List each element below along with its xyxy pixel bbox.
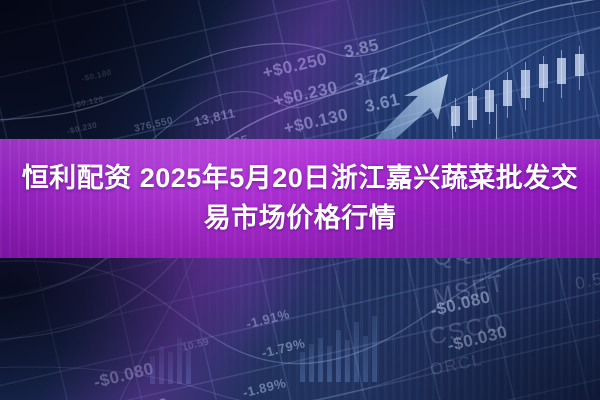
- headline-line-1: 恒利配资 2025年5月20日浙江嘉兴蔬菜批发交: [22, 160, 579, 197]
- banner-image: 3.85 3.72 3.61 +$0.250 +$0.230 +$0.130 1…: [0, 0, 600, 400]
- headline-text-block: 恒利配资 2025年5月20日浙江嘉兴蔬菜批发交 易市场价格行情: [0, 139, 600, 258]
- headline-line-2: 易市场价格行情: [204, 200, 397, 237]
